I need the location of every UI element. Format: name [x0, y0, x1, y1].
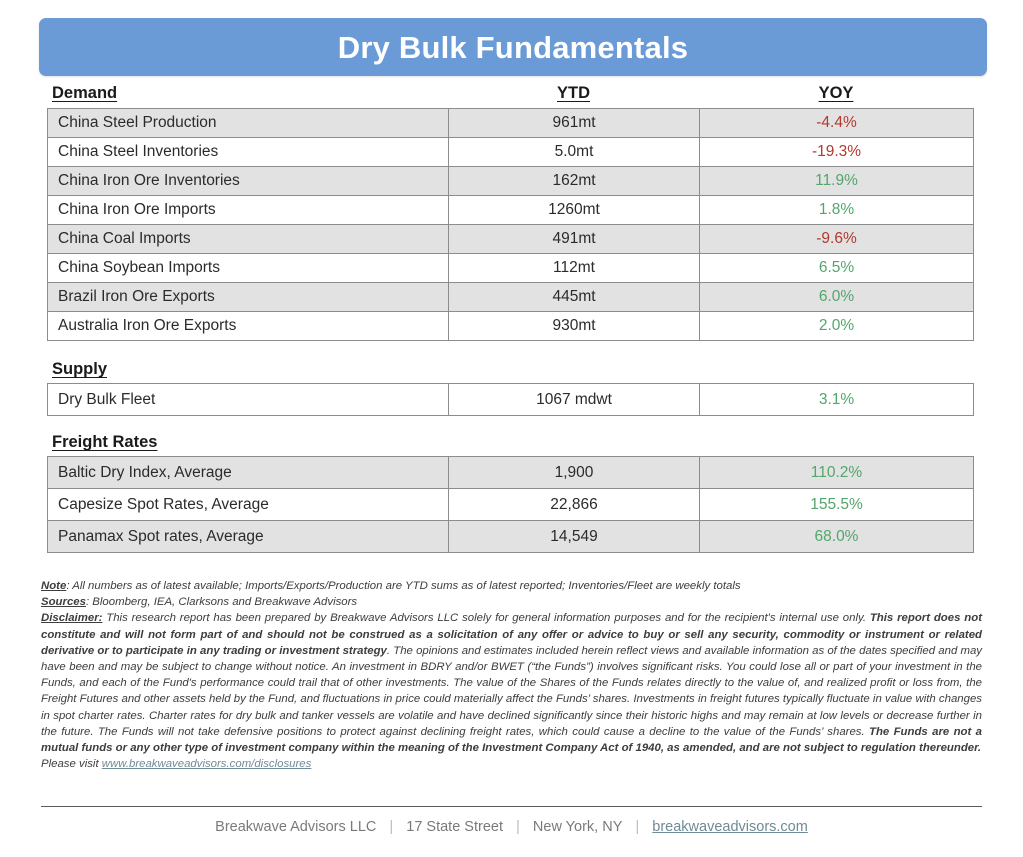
cut-off-top-text: [40, 0, 980, 5]
footer-website-link[interactable]: breakwaveadvisors.com: [639, 819, 821, 835]
disclaimer-body: Disclaimer: This research report has bee…: [41, 610, 982, 756]
row-label: Brazil Iron Ore Exports: [48, 283, 449, 312]
supply-table: Dry Bulk Fleet1067 mdwt3.1%: [47, 383, 974, 416]
row-yoy-value: -4.4%: [700, 109, 974, 138]
row-ytd-value: 5.0mt: [449, 138, 700, 167]
footer-divider: [41, 806, 982, 807]
row-label: Australia Iron Ore Exports: [48, 312, 449, 341]
row-yoy-value: 110.2%: [700, 457, 974, 489]
footer: Breakwave Advisors LLC | 17 State Street…: [41, 818, 982, 835]
demand-table: China Steel Production961mt-4.4%China St…: [47, 108, 974, 341]
row-ytd-value: 14,549: [449, 521, 700, 553]
row-yoy-value: 68.0%: [700, 521, 974, 553]
row-yoy-value: 6.5%: [700, 254, 974, 283]
row-label: China Iron Ore Imports: [48, 196, 449, 225]
please-visit-text: Please visit: [41, 758, 102, 770]
row-yoy-value: -19.3%: [700, 138, 974, 167]
row-ytd-value: 162mt: [449, 167, 700, 196]
please-visit-line: Please visit www.breakwaveadvisors.com/d…: [41, 756, 982, 772]
footer-city: New York, NY: [520, 819, 635, 835]
table-row: Australia Iron Ore Exports930mt2.0%: [48, 312, 974, 341]
row-yoy-value: 11.9%: [700, 167, 974, 196]
row-ytd-value: 445mt: [449, 283, 700, 312]
freight-rates-table: Baltic Dry Index, Average1,900110.2%Cape…: [47, 456, 974, 553]
row-ytd-value: 1260mt: [449, 196, 700, 225]
disclaimer-label: Disclaimer:: [41, 612, 102, 624]
row-ytd-value: 1067 mdwt: [449, 384, 700, 416]
row-label: China Coal Imports: [48, 225, 449, 254]
section-label-supply: Supply: [52, 360, 107, 379]
row-yoy-value: 2.0%: [700, 312, 974, 341]
row-label: Panamax Spot rates, Average: [48, 521, 449, 553]
row-ytd-value: 1,900: [449, 457, 700, 489]
footer-address: 17 State Street: [393, 819, 516, 835]
row-label: China Soybean Imports: [48, 254, 449, 283]
section-label-freight-rates: Freight Rates: [52, 433, 157, 452]
disclaimer-body-1: This research report has been prepared b…: [102, 612, 869, 624]
note-text: : All numbers as of latest available; Im…: [66, 580, 740, 592]
row-yoy-value: 155.5%: [700, 489, 974, 521]
table-row: China Iron Ore Inventories162mt11.9%: [48, 167, 974, 196]
row-ytd-value: 961mt: [449, 109, 700, 138]
row-label: Baltic Dry Index, Average: [48, 457, 449, 489]
table-row: Capesize Spot Rates, Average22,866155.5%: [48, 489, 974, 521]
row-yoy-value: 6.0%: [700, 283, 974, 312]
table-row: Baltic Dry Index, Average1,900110.2%: [48, 457, 974, 489]
row-label: China Steel Inventories: [48, 138, 449, 167]
row-label: Capesize Spot Rates, Average: [48, 489, 449, 521]
section-label-demand: Demand: [52, 84, 117, 103]
table-row: China Soybean Imports112mt6.5%: [48, 254, 974, 283]
table-row: Dry Bulk Fleet1067 mdwt3.1%: [48, 384, 974, 416]
row-yoy-value: -9.6%: [700, 225, 974, 254]
slide-page: Dry Bulk Fundamentals Demand YTD YOY Chi…: [0, 0, 1023, 857]
table-row: Panamax Spot rates, Average14,54968.0%: [48, 521, 974, 553]
row-label: China Iron Ore Inventories: [48, 167, 449, 196]
row-ytd-value: 112mt: [449, 254, 700, 283]
sources-label: Sources: [41, 596, 86, 608]
column-header-yoy: YOY: [699, 84, 973, 103]
row-ytd-value: 930mt: [449, 312, 700, 341]
disclaimer-block: Note: All numbers as of latest available…: [41, 578, 982, 772]
row-yoy-value: 1.8%: [700, 196, 974, 225]
note-line: Note: All numbers as of latest available…: [41, 578, 982, 594]
title-banner: Dry Bulk Fundamentals: [39, 18, 987, 76]
disclaimer-body-2: . The opinions and estimates included he…: [41, 645, 982, 738]
row-yoy-value: 3.1%: [700, 384, 974, 416]
row-ytd-value: 22,866: [449, 489, 700, 521]
sources-line: Sources: Bloomberg, IEA, Clarksons and B…: [41, 594, 982, 610]
row-ytd-value: 491mt: [449, 225, 700, 254]
table-row: China Steel Inventories5.0mt-19.3%: [48, 138, 974, 167]
sources-text: : Bloomberg, IEA, Clarksons and Breakwav…: [86, 596, 357, 608]
note-label: Note: [41, 580, 66, 592]
footer-company: Breakwave Advisors LLC: [202, 819, 389, 835]
table-row: China Coal Imports491mt-9.6%: [48, 225, 974, 254]
disclosures-link[interactable]: www.breakwaveadvisors.com/disclosures: [102, 758, 312, 770]
column-header-ytd: YTD: [448, 84, 699, 103]
page-title: Dry Bulk Fundamentals: [338, 32, 688, 63]
row-label: Dry Bulk Fleet: [48, 384, 449, 416]
row-label: China Steel Production: [48, 109, 449, 138]
table-row: China Iron Ore Imports1260mt1.8%: [48, 196, 974, 225]
table-row: China Steel Production961mt-4.4%: [48, 109, 974, 138]
table-row: Brazil Iron Ore Exports445mt6.0%: [48, 283, 974, 312]
